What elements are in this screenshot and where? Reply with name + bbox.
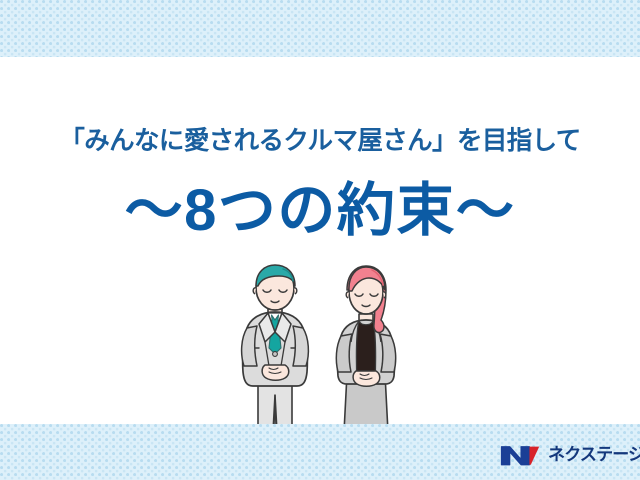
- page-title: 〜8つの約束〜: [0, 178, 640, 244]
- nextage-n-mark-icon: [500, 442, 542, 468]
- poster-canvas: 「みんなに愛されるクルマ屋さん」を目指して 〜8つの約束〜: [0, 0, 640, 480]
- nextage-logo-text: ネクステージ: [548, 445, 640, 465]
- page-subtitle: 「みんなに愛されるクルマ屋さん」を目指して: [0, 124, 640, 158]
- top-dot-band: [0, 0, 640, 57]
- nextage-logo: ネクステージ: [500, 438, 632, 472]
- two-bowing-staff-illustration: [225, 262, 435, 432]
- female-staff-figure: [336, 266, 395, 432]
- male-staff-figure: [242, 265, 309, 432]
